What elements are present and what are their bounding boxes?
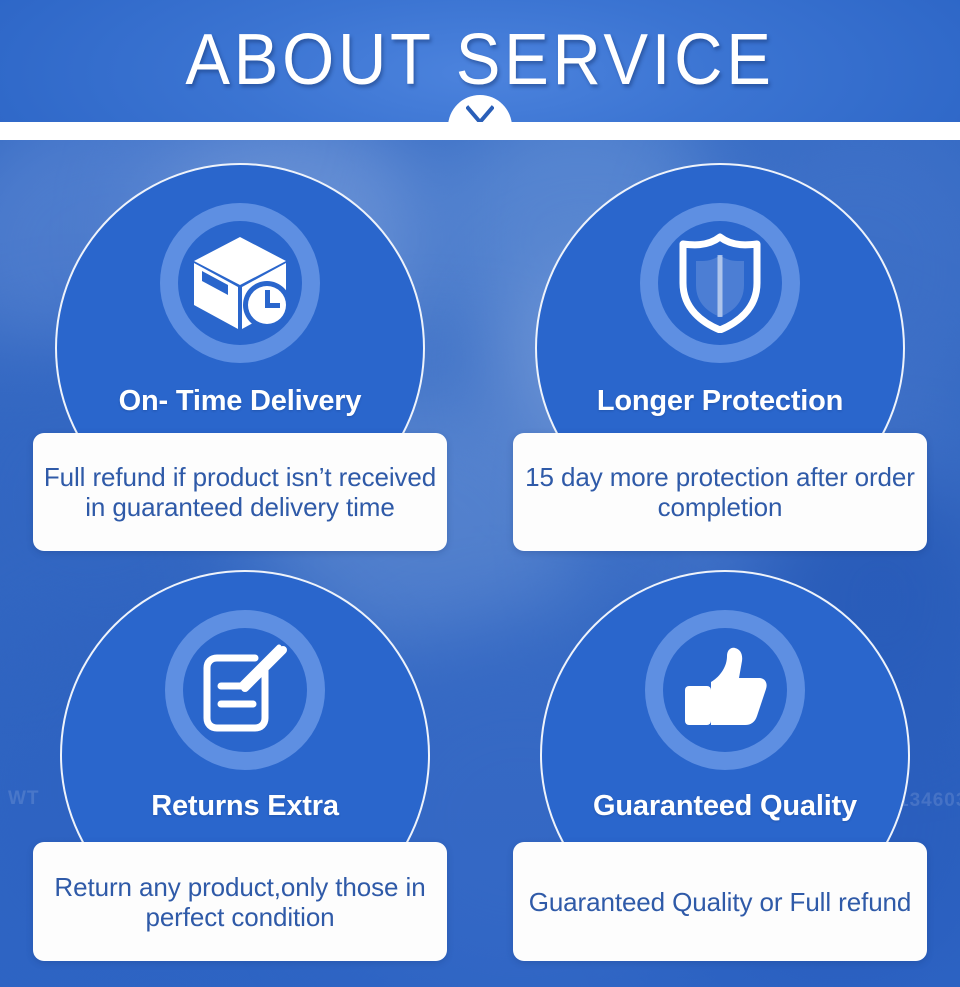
document-pencil-icon <box>165 610 325 770</box>
header-divider <box>0 122 960 140</box>
card-description-panel-on-time-delivery: Full refund if product isn’t received in… <box>33 433 447 551</box>
shield-icon <box>640 203 800 363</box>
watermark-left: WT <box>8 788 40 810</box>
package-clock-icon <box>160 203 320 363</box>
page-title: ABOUT SERVICE <box>34 17 927 103</box>
card-title: Returns Extra <box>60 790 430 823</box>
thumbs-up-icon <box>645 610 805 770</box>
card-description-panel-returns-extra: Return any product,only those in perfect… <box>33 842 447 961</box>
card-description: Return any product,only those in perfect… <box>43 872 437 932</box>
card-description: Guaranteed Quality or Full refund <box>523 887 917 917</box>
card-description: Full refund if product isn’t received in… <box>43 462 437 522</box>
card-title: Guaranteed Quality <box>540 790 910 823</box>
card-description: 15 day more protection after order compl… <box>523 462 917 522</box>
about-service-banner: ABOUT SERVICE WT 134603 <box>0 0 960 987</box>
card-description-panel-longer-protection: 15 day more protection after order compl… <box>513 433 927 551</box>
card-title: On- Time Delivery <box>55 385 425 418</box>
card-title: Longer Protection <box>535 385 905 418</box>
card-description-panel-guaranteed-quality: Guaranteed Quality or Full refund <box>513 842 927 961</box>
